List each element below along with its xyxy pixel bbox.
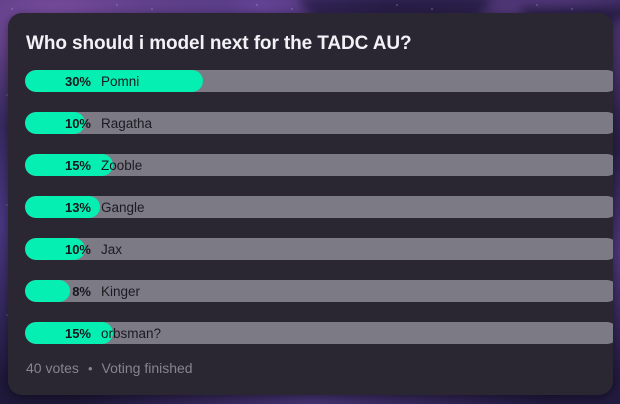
poll-option-row[interactable]: 8%Kinger xyxy=(19,280,602,322)
poll-status: Voting finished xyxy=(102,360,193,376)
poll-bar-fill xyxy=(25,112,85,134)
poll-bar-fill xyxy=(25,196,100,218)
poll-bar-track xyxy=(25,280,613,302)
poll-bar-track xyxy=(25,238,613,260)
poll-option-row[interactable]: 15%orbsman? xyxy=(19,322,602,364)
poll-card: Who should i model next for the TADC AU?… xyxy=(8,13,613,395)
poll-bar-fill xyxy=(25,154,113,176)
poll-question-title: Who should i model next for the TADC AU? xyxy=(26,33,602,55)
poll-bar-fill xyxy=(25,238,85,260)
poll-option-row[interactable]: 15%Zooble xyxy=(19,154,602,196)
poll-bar-track xyxy=(25,322,613,344)
poll-option-row[interactable]: 13%Gangle xyxy=(19,196,602,238)
poll-bar-fill xyxy=(25,322,113,344)
poll-bar-track xyxy=(25,196,613,218)
poll-bar-track xyxy=(25,154,613,176)
poll-option-row[interactable]: 30%Pomni xyxy=(19,70,602,112)
poll-bar-fill xyxy=(25,280,70,302)
separator-dot: • xyxy=(88,362,93,375)
poll-bar-track xyxy=(25,112,613,134)
poll-option-row[interactable]: 10%Ragatha xyxy=(19,112,602,154)
poll-option-row[interactable]: 10%Jax xyxy=(19,238,602,280)
poll-options-list: 30%Pomni10%Ragatha15%Zooble13%Gangle10%J… xyxy=(19,70,602,364)
poll-bar-fill xyxy=(25,70,203,92)
vote-count: 40 votes xyxy=(26,360,79,376)
poll-bar-track xyxy=(25,70,613,92)
poll-footer: 40 votes • Voting finished xyxy=(26,360,193,376)
